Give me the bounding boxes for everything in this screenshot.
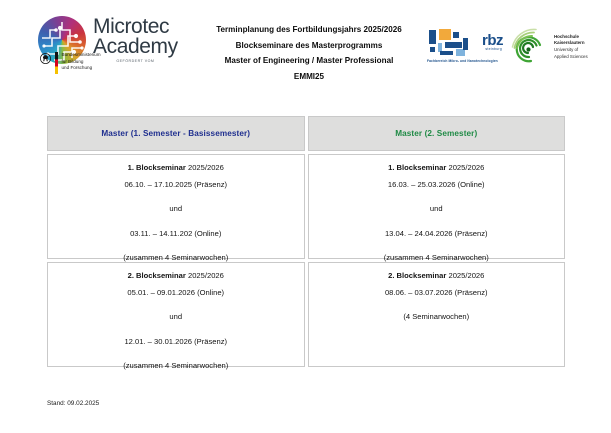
hochschule-text: Hochschule Kaiserslautern University of …	[554, 34, 588, 60]
cell-title-rest: 2025/2026	[186, 271, 224, 280]
bmbf-line-1: Bundesministerium	[62, 52, 101, 59]
cell-line-3: und	[48, 313, 304, 321]
table-cell-block-2-semester-2: 2. Blockseminar 2025/2026 08.06. – 03.07…	[308, 262, 566, 367]
table-cell-block-1-semester-2: 1. Blockseminar 2025/2026 16.03. – 25.03…	[308, 154, 566, 259]
hochschule-line-4: Applied Sciences	[554, 54, 588, 61]
cell-line-3: und	[48, 205, 304, 213]
title-line-4: EMMI25	[196, 69, 422, 85]
bmbf-text: Bundesministerium für Bildung und Forsch…	[62, 52, 101, 72]
hochschule-line-1: Hochschule	[554, 34, 588, 41]
cell-line-4: 13.04. – 24.04.2026 (Präsenz)	[309, 230, 565, 238]
footer-stand-date: Stand: 09.02.2025	[47, 400, 99, 407]
hochschule-kaiserslautern-logo: Hochschule Kaiserslautern University of …	[509, 27, 588, 67]
microtec-word-1: Microtec	[93, 17, 178, 38]
cell-line-4: 03.11. – 14.11.202 (Online)	[48, 230, 304, 238]
table-header-cell-semester-2: Master (2. Semester)	[308, 116, 566, 151]
cell-title-bold: 1. Blockseminar	[388, 163, 446, 172]
microtec-supported-by-label: GEFÖRDERT VOM	[93, 60, 178, 64]
cell-line-4: (4 Seminarwochen)	[309, 313, 565, 321]
cell-line-2: 16.03. – 25.03.2026 (Online)	[309, 181, 565, 189]
cell-line-4: 12.01. – 30.01.2026 (Präsenz)	[48, 338, 304, 346]
table-cell-block-2-semester-1: 2. Blockseminar 2025/2026 05.01. – 09.01…	[47, 262, 305, 367]
bmbf-line-3: und Forschung	[62, 65, 101, 72]
hochschule-line-3: University of	[554, 47, 588, 54]
cell-title: 2. Blockseminar 2025/2026	[48, 272, 304, 280]
cell-line-5: (zusammen 4 Seminarwochen)	[309, 254, 565, 262]
rbz-wordmark: rbz	[482, 33, 503, 48]
cell-title-bold: 2. Blockseminar	[128, 271, 186, 280]
cell-line-5: (zusammen 4 Seminarwochen)	[48, 362, 304, 370]
title-line-3: Master of Engineering / Master Professio…	[196, 53, 422, 69]
cell-title-rest: 2025/2026	[446, 163, 484, 172]
cell-title-rest: 2025/2026	[186, 163, 224, 172]
cell-line-2: 05.01. – 09.01.2026 (Online)	[48, 289, 304, 297]
rbz-logo: rbz steinburg Fachbereich Mikro- und Nan…	[427, 28, 503, 63]
title-line-1: Terminplanung des Fortbildungsjahrs 2025…	[196, 22, 422, 38]
hochschule-line-2: Kaiserslautern	[554, 40, 588, 47]
cell-title: 2. Blockseminar 2025/2026	[309, 272, 565, 280]
german-federal-eagle-icon	[40, 53, 51, 64]
cell-line-5: (zusammen 4 Seminarwochen)	[48, 254, 304, 262]
table-header-label-semester-2: Master (2. Semester)	[395, 129, 477, 138]
page-header: Microtec Academy GEFÖRDERT VOM Bundesmin…	[0, 0, 611, 110]
cell-line-2: 08.06. – 03.07.2026 (Präsenz)	[309, 289, 565, 297]
cell-title-bold: 1. Blockseminar	[128, 163, 186, 172]
page-title: Terminplanung des Fortbildungsjahrs 2025…	[196, 22, 422, 84]
german-flag-bar-icon	[55, 52, 58, 74]
table-cell-block-1-semester-1: 1. Blockseminar 2025/2026 06.10. – 17.10…	[47, 154, 305, 259]
bmbf-logo: Bundesministerium für Bildung und Forsch…	[40, 52, 101, 74]
cell-line-2: 06.10. – 17.10.2025 (Präsenz)	[48, 181, 304, 189]
fingerprint-icon	[509, 27, 549, 67]
rbz-subtitle: steinburg	[485, 47, 502, 51]
cell-title: 1. Blockseminar 2025/2026	[309, 164, 565, 172]
cell-title: 1. Blockseminar 2025/2026	[48, 164, 304, 172]
title-line-2: Blockseminare des Masterprogramms	[196, 38, 422, 54]
cell-line-3: und	[309, 205, 565, 213]
table-header-cell-semester-1: Master (1. Semester - Basissemester)	[47, 116, 305, 151]
microtec-word-2: Academy	[93, 37, 178, 58]
schedule-table: Master (1. Semester - Basissemester) Mas…	[47, 116, 565, 367]
table-header-label-semester-1: Master (1. Semester - Basissemester)	[101, 129, 250, 138]
cell-title-bold: 2. Blockseminar	[388, 271, 446, 280]
rbz-caption: Fachbereich Mikro- und Nanotechnologien	[427, 59, 503, 63]
cell-title-rest: 2025/2026	[446, 271, 484, 280]
